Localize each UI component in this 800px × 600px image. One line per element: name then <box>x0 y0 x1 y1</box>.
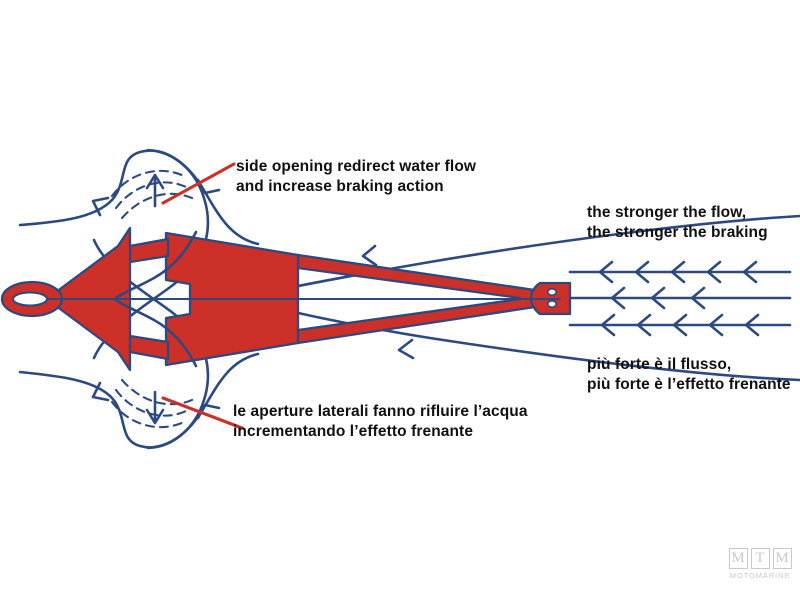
tow-eye-hole <box>13 293 47 306</box>
annotation-piu-forte: più forte è il flusso, più forte è l’eff… <box>587 355 791 395</box>
dashed-recirc-lower-3 <box>122 380 196 404</box>
diagram-canvas: .bl { stroke:#2D4A80; fill:none; stroke-… <box>0 0 800 600</box>
annotation-aperture-laterali: le aperture laterali fanno rifluire l’ac… <box>233 402 528 442</box>
watermark-letter-1: M <box>729 548 748 569</box>
watermark-motomarine: M T M MOTOMARINE <box>727 548 793 580</box>
strut-upper <box>130 239 168 262</box>
flow-diagram: .bl { stroke:#2D4A80; fill:none; stroke-… <box>0 0 800 600</box>
annotation-stronger-flow: the stronger the flow, the stronger the … <box>587 203 768 243</box>
annotation-side-opening: side opening redirect water flow and inc… <box>236 157 476 197</box>
flow-streamlines-right <box>570 262 790 335</box>
watermark-letter-2: T <box>751 548 770 569</box>
strut-lower <box>130 336 168 359</box>
chevron-outer-lower <box>399 340 413 358</box>
dashed-recirc-upper-3 <box>122 194 196 218</box>
leader-line-upper <box>163 164 234 203</box>
watermark-letters: M T M <box>727 548 793 569</box>
watermark-subtitle: MOTOMARINE <box>727 571 793 580</box>
eddy-lower-outer <box>20 354 258 447</box>
chevron-outer-upper <box>363 246 376 265</box>
shackle-hole-upper <box>548 289 556 295</box>
watermark-letter-3: M <box>773 548 792 569</box>
eddy-upper-outer <box>20 151 258 244</box>
shackle-hole-lower <box>548 301 556 307</box>
